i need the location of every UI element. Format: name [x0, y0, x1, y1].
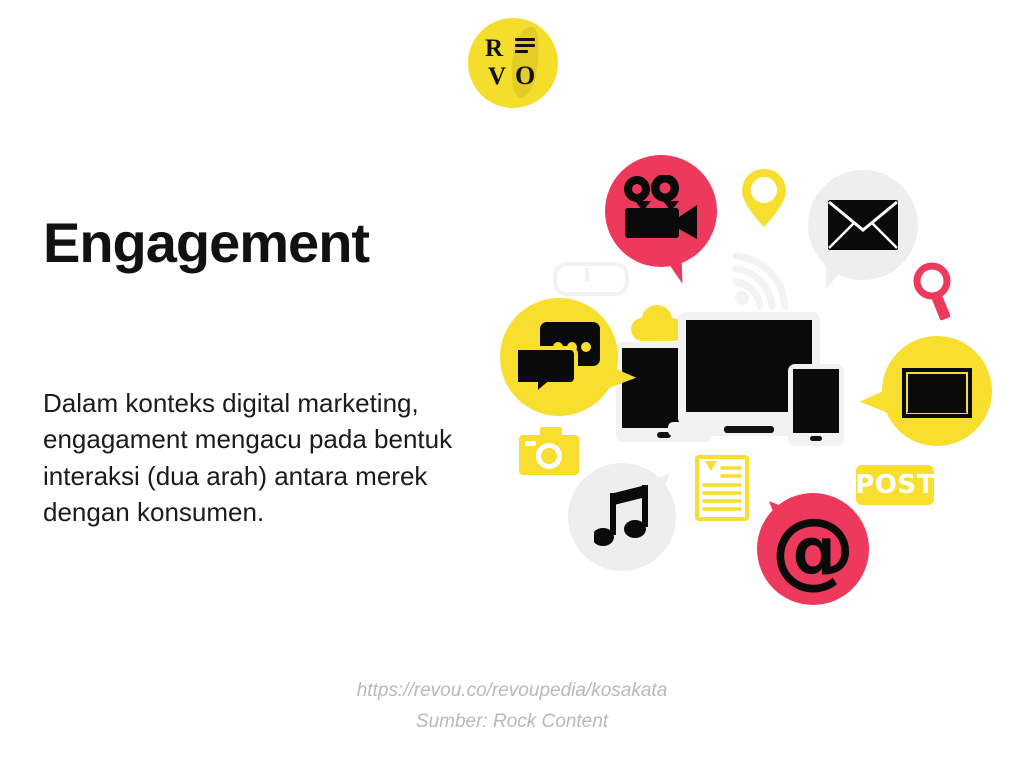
phone-device-icon [788, 364, 844, 446]
wifi-icon [730, 248, 792, 310]
bubble-tail [859, 389, 892, 418]
source-url: https://revou.co/revoupedia/kosakata [0, 676, 1024, 707]
logo-letter-o: O [515, 63, 535, 89]
document-icon [695, 455, 749, 521]
bubble-tail [603, 364, 638, 393]
source-credit: Sumber: Rock Content [0, 707, 1024, 738]
music-note-icon [594, 485, 654, 551]
email-bubble [808, 170, 918, 280]
envelope-icon [828, 200, 898, 250]
chat-bubbles-icon [518, 322, 602, 394]
at-sign-icon: @ [757, 493, 869, 605]
digital-marketing-icon-cluster: @ POST [490, 140, 1010, 630]
devices-group [616, 312, 874, 448]
bubble-tail [818, 256, 849, 293]
video-camera-bubble [605, 155, 717, 267]
post-badge-label: POST [855, 470, 935, 500]
at-bubble: @ [757, 493, 869, 605]
camera-icon [518, 427, 580, 477]
location-pin-icon [740, 167, 788, 229]
footer: https://revou.co/revoupedia/kosakata Sum… [0, 676, 1024, 738]
page-title: Engagement [43, 214, 369, 273]
bubble-tail [662, 249, 689, 286]
video-camera-icon [621, 175, 701, 241]
music-bubble [568, 463, 676, 571]
chat-bubble [500, 298, 618, 416]
picture-bubble [882, 336, 992, 446]
slide-root: R V O Engagement Dalam konteks digital m… [0, 0, 1024, 768]
logo-letter-r: R [485, 36, 503, 61]
logo-letter-v: V [488, 64, 506, 89]
magnifier-icon [910, 260, 958, 322]
logo-letter-e [515, 38, 535, 58]
picture-icon [900, 366, 974, 420]
toggle-switch-icon [553, 262, 629, 296]
post-badge: POST [856, 465, 934, 505]
revou-logo: R V O [468, 18, 558, 108]
definition-text: Dalam konteks digital marketing, engagam… [43, 385, 513, 531]
